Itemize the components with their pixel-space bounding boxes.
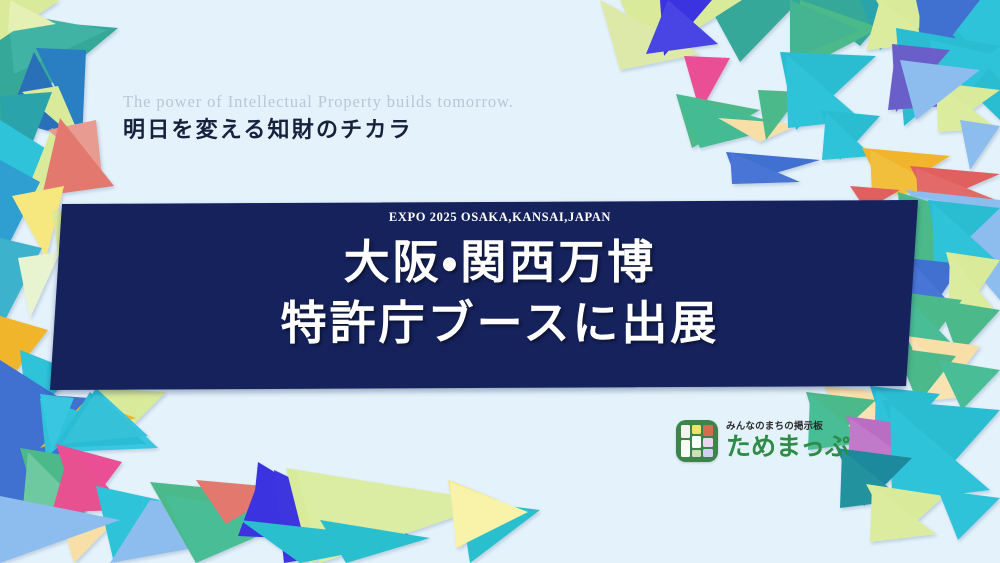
logo-mark-block	[681, 425, 690, 438]
logo-mark-block	[703, 438, 713, 447]
logo-mark-block	[692, 436, 701, 448]
tagline-english: The power of Intellectual Property build…	[123, 92, 514, 112]
tamemap-logo[interactable]: みんなのまちの掲示板 ためまっぷ	[676, 420, 850, 462]
logo-mark-block	[692, 425, 701, 434]
logo-mark-block	[692, 450, 701, 457]
tamemap-logo-mark-icon	[676, 420, 718, 462]
banner-shape	[50, 200, 918, 390]
logo-mark-block	[703, 449, 713, 457]
logo-mark-block	[681, 440, 690, 457]
tamemap-logo-text: みんなのまちの掲示板 ためまっぷ	[726, 422, 850, 460]
poster-stage: The power of Intellectual Property build…	[0, 0, 1000, 563]
logo-tagline: みんなのまちの掲示板	[726, 422, 850, 432]
tagline-block: The power of Intellectual Property build…	[123, 92, 514, 143]
navy-banner	[0, 190, 1000, 400]
logo-mark-block	[703, 425, 713, 436]
logo-name: ためまっぷ	[726, 435, 850, 460]
tagline-japanese: 明日を変える知財のチカラ	[123, 116, 514, 144]
